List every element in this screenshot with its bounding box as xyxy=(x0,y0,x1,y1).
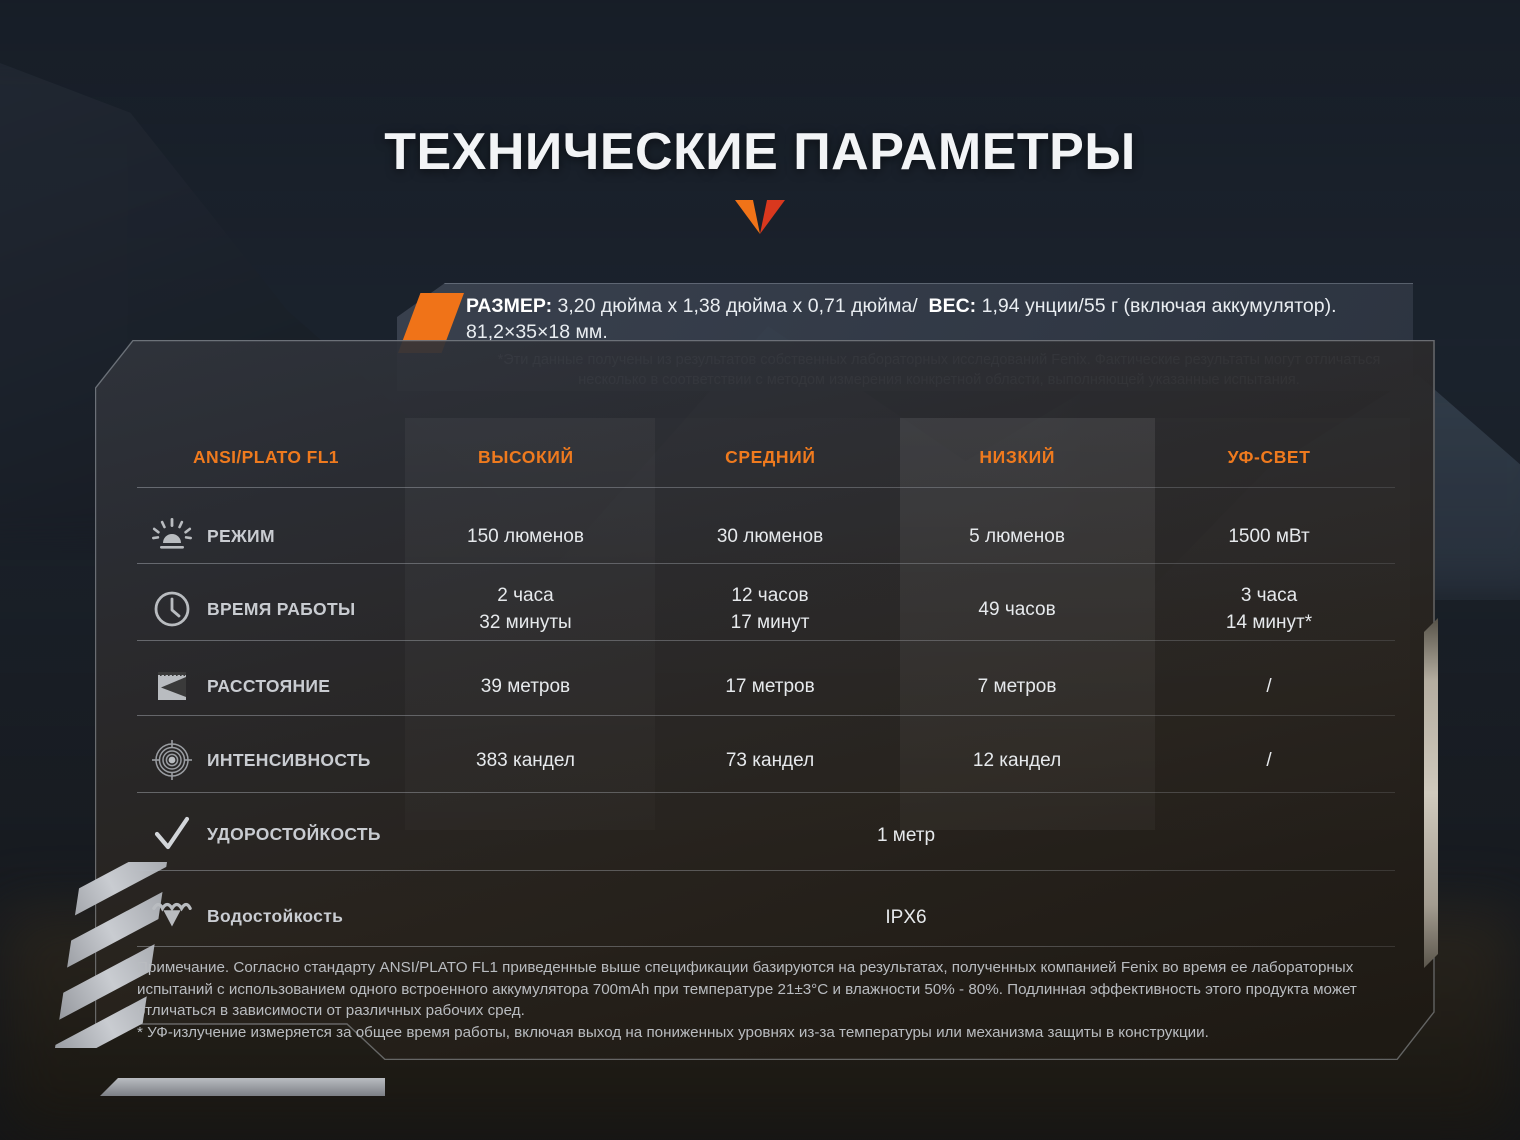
beam-distance-icon xyxy=(151,665,193,707)
header-high: ВЫСОКИЙ xyxy=(402,447,649,468)
cell-runtime-uv: 3 часа14 минут* xyxy=(1143,582,1395,636)
cell-distance-uv: / xyxy=(1143,673,1395,700)
row-label-text: УДОРОСТОЙКОСТЬ xyxy=(207,824,381,845)
clock-icon xyxy=(151,588,193,630)
weight-label: ВЕС: xyxy=(929,295,977,317)
row-label-text: Водостойкость xyxy=(207,906,343,927)
cell-intensity-high: 383 кандел xyxy=(402,747,649,774)
row-label-text: РАССТОЯНИЕ xyxy=(207,676,330,697)
row-label-runtime: ВРЕМЯ РАБОТЫ xyxy=(137,588,402,630)
header-standard: ANSI/PLATO FL1 xyxy=(137,447,402,468)
header-low: НИЗКИЙ xyxy=(891,447,1143,468)
row-label-text: ВРЕМЯ РАБОТЫ xyxy=(207,599,355,620)
footnote-line-2: * УФ-излучение измеряется за общее время… xyxy=(137,1022,1407,1044)
cell-runtime-high: 2 часа32 минуты xyxy=(402,582,649,636)
water-drop-icon xyxy=(151,895,193,937)
row-label-impact: УДОРОСТОЙКОСТЬ xyxy=(137,813,405,855)
cell-distance-medium: 17 метров xyxy=(649,673,891,700)
table-row: ВРЕМЯ РАБОТЫ 2 часа32 минуты 12 часов17 … xyxy=(137,570,1395,648)
footnote-line-1: Примечание. Согласно стандарту ANSI/PLAT… xyxy=(137,957,1407,1022)
cell-waterproof-value: IPX6 xyxy=(650,907,1162,929)
specs-table: ANSI/PLATO FL1 ВЫСОКИЙ СРЕДНИЙ НИЗКИЙ УФ… xyxy=(95,340,1435,1060)
cell-runtime-medium: 12 часов17 минут xyxy=(649,582,891,636)
bottom-accent-bar xyxy=(100,1078,385,1096)
row-label-distance: РАССТОЯНИЕ xyxy=(137,665,402,707)
cell-intensity-uv: / xyxy=(1143,747,1395,774)
table-row: РАССТОЯНИЕ 39 метров 17 метров 7 метров … xyxy=(137,650,1395,722)
cell-distance-low: 7 метров xyxy=(891,673,1143,700)
size-weight-text: РАЗМЕР: 3,20 дюйма x 1,38 дюйма x 0,71 д… xyxy=(466,293,1396,345)
row-label-waterproof: Водостойкость xyxy=(137,895,405,937)
size-value: 3,20 дюйма x 1,38 дюйма x 0,71 дюйма/ xyxy=(558,295,918,317)
cell-intensity-low: 12 кандел xyxy=(891,747,1143,774)
cell-output-high: 150 люменов xyxy=(402,523,649,550)
header-medium: СРЕДНИЙ xyxy=(649,447,891,468)
divider xyxy=(137,563,1395,564)
weight-value: 1,94 унции/55 г (включая аккумулятор). xyxy=(982,295,1337,317)
table-row: ИНТЕНСИВНОСТЬ 383 кандел 73 кандел 12 ка… xyxy=(137,723,1395,797)
row-label-output: РЕЖИМ xyxy=(137,515,402,557)
divider xyxy=(137,792,1395,793)
sunburst-icon xyxy=(151,515,193,557)
cell-runtime-low: 49 часов xyxy=(891,596,1143,623)
table-header-row: ANSI/PLATO FL1 ВЫСОКИЙ СРЕДНИЙ НИЗКИЙ УФ… xyxy=(137,432,1395,482)
target-intensity-icon xyxy=(151,739,193,781)
chevron-down-icon xyxy=(735,200,785,234)
cell-output-medium: 30 люменов xyxy=(649,523,891,550)
row-label-intensity: ИНТЕНСИВНОСТЬ xyxy=(137,739,402,781)
divider xyxy=(137,870,1395,871)
divider xyxy=(137,487,1395,488)
cell-intensity-medium: 73 кандел xyxy=(649,747,891,774)
page-title: ТЕХНИЧЕСКИЕ ПАРАМЕТРЫ xyxy=(0,122,1520,182)
cell-output-uv: 1500 мВт xyxy=(1143,523,1395,550)
footnote: Примечание. Согласно стандарту ANSI/PLAT… xyxy=(137,957,1407,1043)
cell-output-low: 5 люменов xyxy=(891,523,1143,550)
divider xyxy=(137,715,1395,716)
cell-distance-high: 39 метров xyxy=(402,673,649,700)
checkmark-icon xyxy=(151,813,193,855)
size-label: РАЗМЕР: xyxy=(466,295,552,317)
header-uv: УФ-СВЕТ xyxy=(1143,447,1395,468)
cell-impact-value: 1 метр xyxy=(650,825,1162,847)
table-row: РЕЖИМ 150 люменов 30 люменов 5 люменов 1… xyxy=(137,500,1395,572)
row-label-text: ИНТЕНСИВНОСТЬ xyxy=(207,750,371,771)
row-label-text: РЕЖИМ xyxy=(207,526,275,547)
divider xyxy=(137,946,1395,947)
divider xyxy=(137,640,1395,641)
